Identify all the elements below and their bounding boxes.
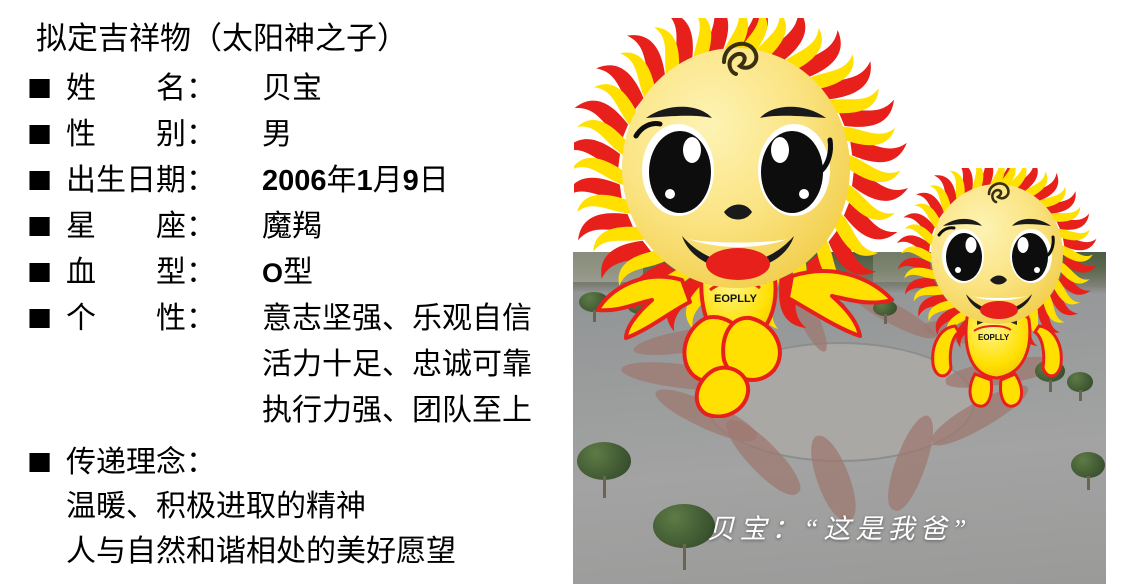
- birth-day-unit: 日: [419, 164, 449, 197]
- personality-line-1: 意志坚强、乐观自信: [262, 296, 532, 342]
- svg-text:EOPLLY: EOPLLY: [714, 293, 758, 305]
- concept-line-2: 人与自然和谐相处的美好愿望: [66, 529, 578, 574]
- bullet-square-icon: [30, 309, 49, 328]
- personality-line-3: 执行力强、团队至上: [262, 388, 532, 434]
- attribute-value-gender: 男: [262, 112, 292, 158]
- birth-year-unit: 年: [327, 164, 357, 197]
- attribute-value-birthdate: 2006年1月9日: [262, 158, 449, 204]
- attribute-row-bloodtype: 血 型： O型: [30, 250, 578, 296]
- eye-right: [758, 124, 831, 216]
- attribute-list: 姓 名： 贝宝 性 别： 男 出生日期： 2006年1月9日 星 座： 魔羯: [30, 66, 578, 434]
- attribute-label-birthdate: 出生日期：: [66, 158, 262, 204]
- concept-line-1: 温暖、积极进取的精神: [66, 484, 578, 529]
- bullet-square-icon: [30, 217, 49, 236]
- attribute-row-zodiac: 星 座： 魔羯: [30, 204, 578, 250]
- bloodtype-letter: O: [262, 258, 283, 288]
- birth-month-unit: 月: [373, 164, 403, 197]
- concept-line-list: 温暖、积极进取的精神 人与自然和谐相处的美好愿望: [66, 484, 578, 574]
- attribute-value-personality: 意志坚强、乐观自信 活力十足、忠诚可靠 执行力强、团队至上: [262, 296, 532, 434]
- bullet-square-icon: [30, 171, 49, 190]
- birth-year: 2006: [262, 165, 327, 197]
- attribute-value-zodiac: 魔羯: [262, 204, 322, 250]
- bullet-square-icon: [30, 125, 49, 144]
- svg-text:EOPLLY: EOPLLY: [978, 333, 1010, 342]
- attribute-label-personality: 个 性：: [66, 296, 262, 342]
- bullet-square-icon: [30, 453, 49, 472]
- bloodtype-unit: 型: [283, 256, 313, 289]
- birth-day: 9: [403, 165, 419, 197]
- concept-block: 传递理念： 温暖、积极进取的精神 人与自然和谐相处的美好愿望: [30, 440, 578, 574]
- birth-month: 1: [357, 165, 373, 197]
- personality-line-2: 活力十足、忠诚可靠: [262, 342, 532, 388]
- text-column: 拟定吉祥物（太阳神之子） 姓 名： 贝宝 性 别： 男 出生日期： 2006年1…: [0, 0, 578, 584]
- concept-heading-row: 传递理念：: [30, 440, 578, 484]
- bullet-square-icon: [30, 263, 49, 282]
- attribute-row-name: 姓 名： 贝宝: [30, 66, 578, 112]
- mascot-small-beibao: EOPLLY: [893, 168, 1108, 408]
- attribute-value-name: 贝宝: [262, 66, 322, 112]
- slide-canvas: 拟定吉祥物（太阳神之子） 姓 名： 贝宝 性 别： 男 出生日期： 2006年1…: [0, 0, 1136, 584]
- bullet-square-icon: [30, 79, 49, 98]
- attribute-value-bloodtype: O型: [262, 250, 313, 296]
- concept-heading: 传递理念：: [66, 440, 216, 486]
- attribute-label-name: 姓 名：: [66, 66, 262, 112]
- attribute-label-zodiac: 星 座：: [66, 204, 262, 250]
- page-title: 拟定吉祥物（太阳神之子）: [36, 20, 408, 58]
- attribute-label-gender: 性 别：: [66, 112, 262, 158]
- photo-caption: 贝宝：“这是我爸”: [573, 507, 1106, 546]
- attribute-row-gender: 性 别： 男: [30, 112, 578, 158]
- attribute-row-birthdate: 出生日期： 2006年1月9日: [30, 158, 578, 204]
- attribute-row-personality: 个 性： 意志坚强、乐观自信 活力十足、忠诚可靠 执行力强、团队至上: [30, 296, 578, 434]
- attribute-label-bloodtype: 血 型：: [66, 250, 262, 296]
- mascot-large-beibao: EOPLLY: [574, 18, 934, 418]
